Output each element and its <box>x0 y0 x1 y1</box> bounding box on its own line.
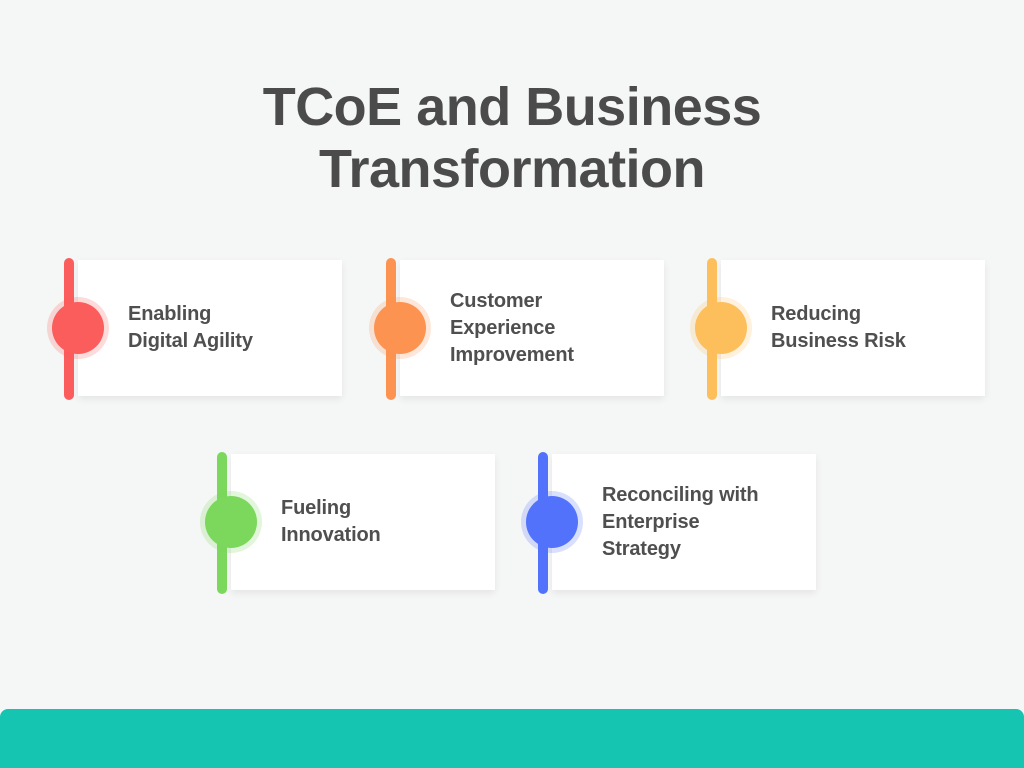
milestone-label: Reconciling with Enterprise Strategy <box>552 482 771 563</box>
milestone-item-fueling-innovation[interactable]: Fueling Innovation <box>217 454 495 590</box>
milestone-item-reducing-business-risk[interactable]: Reducing Business Risk <box>707 260 985 396</box>
timeline-dot-icon <box>374 302 426 354</box>
card-row-bottom: Fueling InnovationReconciling with Enter… <box>0 454 1024 590</box>
page-title-line-1: TCoE and Business <box>0 76 1024 138</box>
page-title-line-2: Transformation <box>0 138 1024 200</box>
milestone-item-reconciling-with-enterprise-strategy[interactable]: Reconciling with Enterprise Strategy <box>538 454 816 590</box>
milestone-item-customer-experience-improvement[interactable]: Customer Experience Improvement <box>386 260 664 396</box>
milestone-card[interactable]: Reconciling with Enterprise Strategy <box>552 454 816 590</box>
timeline-dot-icon <box>695 302 747 354</box>
timeline-dot-icon <box>526 496 578 548</box>
milestone-card[interactable]: Reducing Business Risk <box>721 260 985 396</box>
card-row-top: Enabling Digital AgilityCustomer Experie… <box>0 260 1024 396</box>
milestone-item-enabling-digital-agility[interactable]: Enabling Digital Agility <box>64 260 342 396</box>
milestone-card[interactable]: Enabling Digital Agility <box>78 260 342 396</box>
timeline-dot-icon <box>205 496 257 548</box>
milestone-card[interactable]: Customer Experience Improvement <box>400 260 664 396</box>
footer-bar <box>0 709 1024 768</box>
slide-canvas: TCoE and Business Transformation Enablin… <box>0 0 1024 768</box>
timeline-dot-icon <box>52 302 104 354</box>
milestone-card[interactable]: Fueling Innovation <box>231 454 495 590</box>
page-title: TCoE and Business Transformation <box>0 76 1024 200</box>
